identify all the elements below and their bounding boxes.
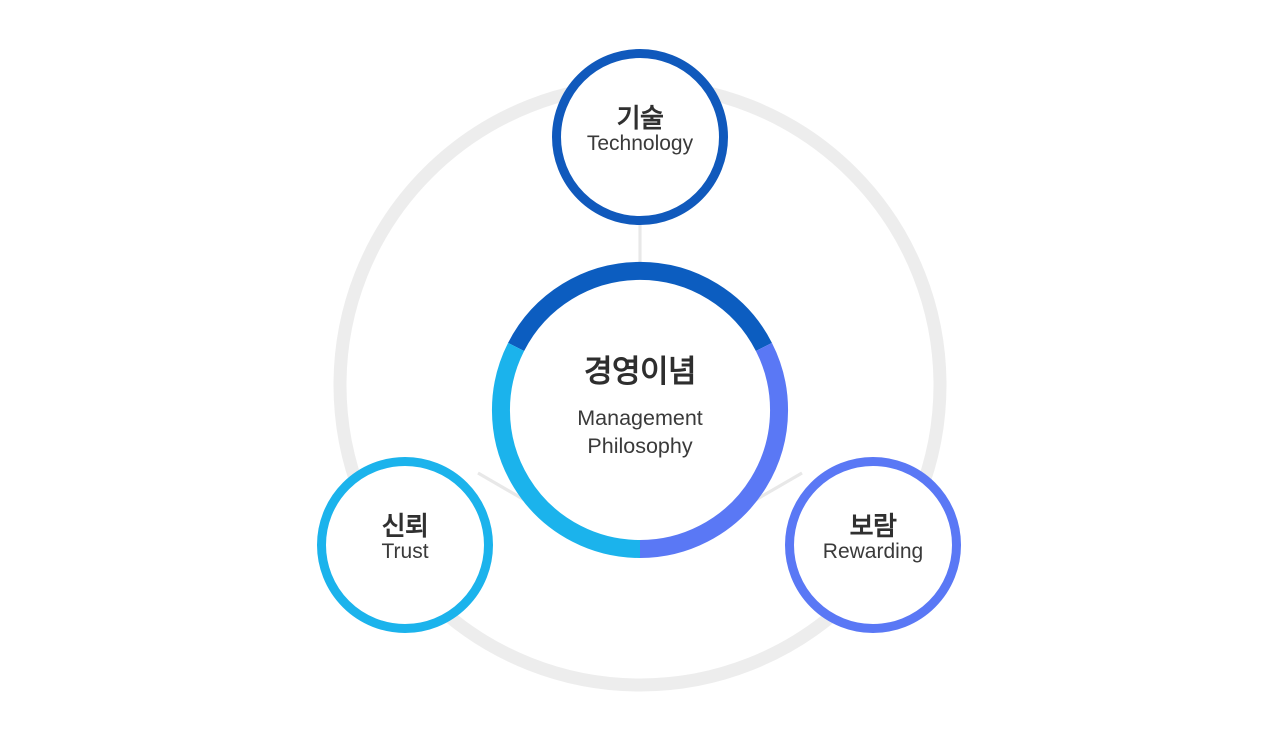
center-ring-segment-technology [516, 271, 764, 347]
node-circle-rewarding[interactable] [790, 462, 957, 629]
node-circle-trust[interactable] [322, 462, 489, 629]
diagram-canvas [0, 0, 1280, 750]
node-circle-technology[interactable] [557, 54, 724, 221]
center-ring-segment-trust [501, 347, 640, 549]
management-philosophy-diagram: 경영이념 Management Philosophy 기술 Technology… [0, 0, 1280, 750]
center-ring-segment-rewarding [640, 347, 779, 549]
